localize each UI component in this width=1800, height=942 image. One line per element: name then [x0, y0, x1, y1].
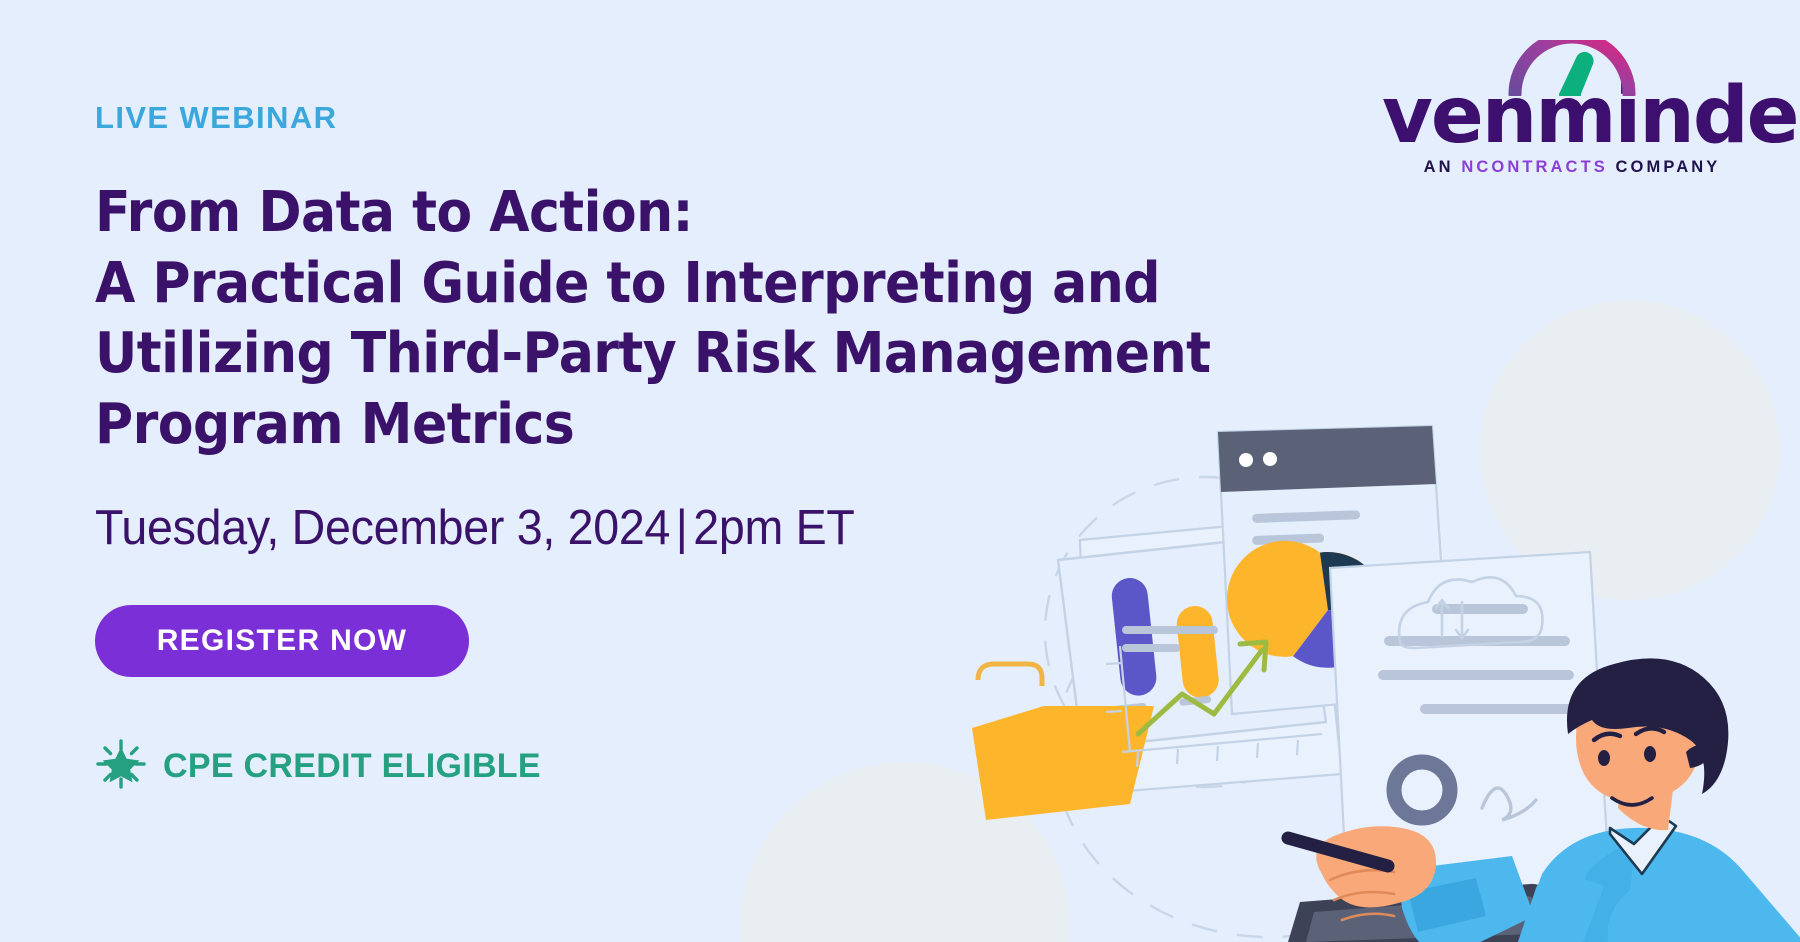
- register-now-button[interactable]: REGISTER NOW: [95, 605, 469, 677]
- tagline-suffix: COMPANY: [1608, 158, 1721, 176]
- event-datetime: Tuesday, December 3, 2024|2pm ET: [95, 500, 855, 556]
- venminder-arc-mark: [1382, 40, 1762, 88]
- datetime-separator: |: [670, 501, 693, 555]
- cpe-credit-label: CPE CREDIT ELIGIBLE: [163, 747, 541, 786]
- cpe-credit-badge: CPE CREDIT ELIGIBLE: [95, 738, 541, 795]
- sparkle-star-icon: [95, 738, 147, 795]
- event-time: 2pm ET: [693, 501, 854, 555]
- event-date: Tuesday, December 3, 2024: [95, 501, 670, 555]
- tagline-prefix: AN: [1424, 158, 1462, 176]
- headline-line-1: From Data to Action:: [95, 178, 1192, 249]
- page-title: From Data to Action: A Practical Guide t…: [95, 178, 1192, 460]
- venminder-logo[interactable]: venminder AN NCONTRACTS COMPANY: [1382, 40, 1762, 177]
- venminder-tagline: AN NCONTRACTS COMPANY: [1382, 158, 1762, 177]
- headline-line-3: Utilizing Third-Party Risk Management: [95, 319, 1192, 390]
- data-analytics-illustration: [970, 422, 1800, 942]
- webinar-promo-banner: venminder AN NCONTRACTS COMPANY LIVE WEB…: [0, 0, 1800, 942]
- tagline-brand: NCONTRACTS: [1461, 158, 1608, 176]
- eyebrow-live-webinar: LIVE WEBINAR: [95, 100, 337, 136]
- headline-line-2: A Practical Guide to Interpreting and: [95, 249, 1192, 320]
